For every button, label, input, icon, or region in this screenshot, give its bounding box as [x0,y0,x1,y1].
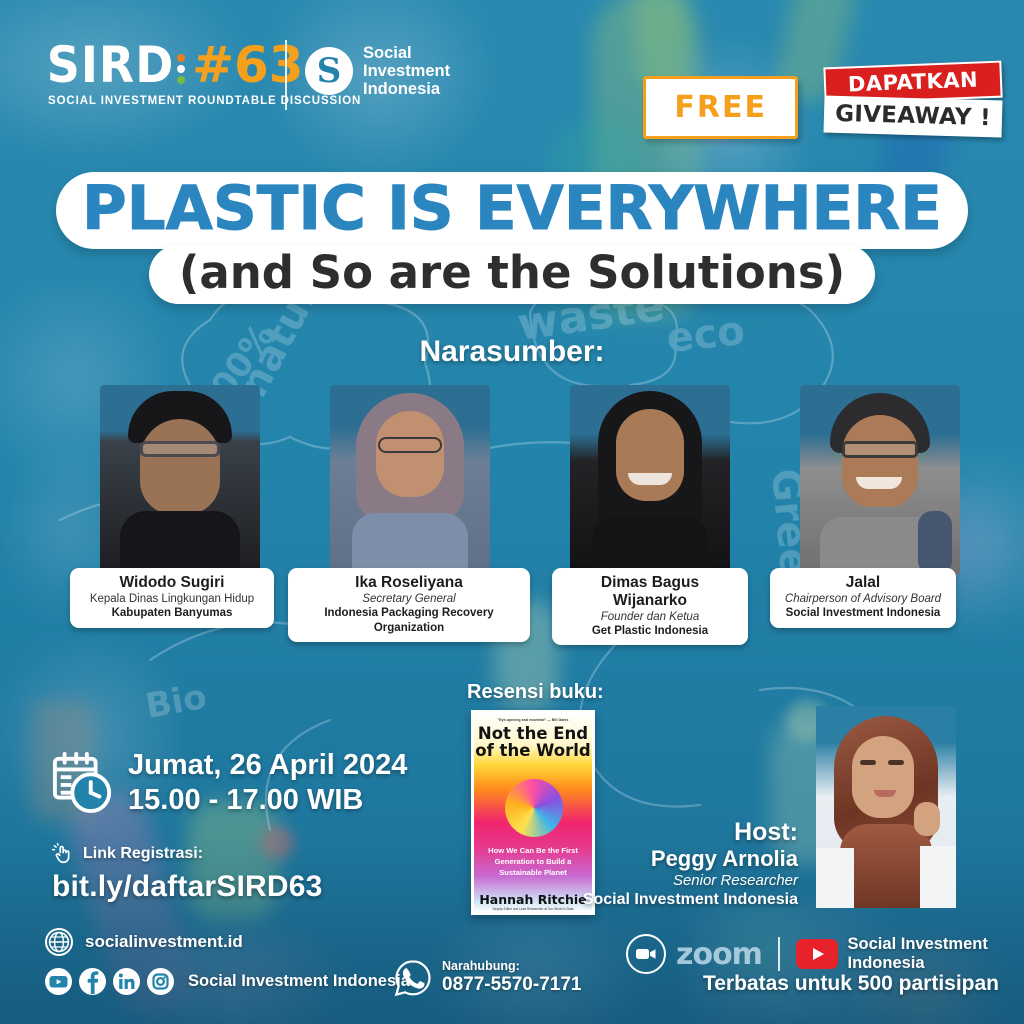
name-card-widodo-sugiri: Widodo Sugiri Kepala Dinas Lingkungan Hi… [70,568,274,628]
book-author-credentials: Deputy Editor and Lead Researcher at Our… [474,907,592,911]
si-logo-line1: Social [363,44,450,62]
registration-label: Link Registrasi: [83,845,203,863]
speaker-role: Chairperson of Advisory Board [780,592,946,606]
speaker-org: Get Plastic Indonesia [562,624,738,638]
speaker-role: Founder dan Ketua [562,610,738,624]
speaker-role: Secretary General [298,592,520,606]
name-card-jalal: Jalal Chairperson of Advisory Board Soci… [770,568,956,628]
facebook-icon[interactable] [79,968,106,995]
zoom-wordmark: zoom [676,937,762,972]
book-subtitle: How We Can Be the First Generation to Bu… [474,846,592,878]
host-role: Senior Researcher [583,872,798,890]
poster-canvas: natural 100% waste eco Green Bio SIRD #6… [0,0,1024,1024]
brand-dots-icon [177,54,185,84]
capacity-note: Terbatas untuk 500 partisipan [703,972,999,996]
zoom-icon [626,934,666,974]
title-line2-plate: (and So are the Solutions) [149,245,875,304]
book-section-label: Resensi buku: [467,681,604,704]
si-logo-line2: Investment [363,62,450,80]
speaker-role: Kepala Dinas Lingkungan Hidup [80,592,264,606]
header-divider [285,40,287,110]
registration-block[interactable]: Link Registrasi: bit.ly/daftarSIRD63 [52,843,323,904]
globe-icon [45,928,73,956]
speaker-photo-widodo-sugiri [100,385,260,575]
calendar-clock-icon [52,752,114,814]
website-row[interactable]: socialinvestment.id [45,928,243,956]
free-badge: FREE [643,76,798,139]
event-datetime-text: Jumat, 26 April 2024 15.00 - 17.00 WIB [128,748,407,819]
book-globe-graphic [505,779,563,837]
speaker-photo-ika-roseliyana [330,385,490,575]
name-card-ika-roseliyana: Ika Roseliyana Secretary General Indones… [288,568,530,642]
free-badge-label: FREE [674,90,767,125]
poster-header: SIRD #63 SOCIAL INVESTMENT ROUNDTABLE DI… [0,36,1024,116]
giveaway-bottom-label: GIVEAWAY ! [824,96,1003,138]
platform-divider [778,937,780,971]
contact-phone[interactable]: 0877-5570-7171 [442,974,581,996]
contact-label: Narahubung: [442,960,581,974]
host-info: Host: Peggy Arnolia Senior Researcher So… [583,818,798,910]
instagram-icon[interactable] [147,968,174,995]
host-org: Social Investment Indonesia [583,890,798,910]
social-handle: Social Investment Indonesia [188,972,410,991]
speaker-photo-jalal [800,385,960,575]
speaker-org: Kabupaten Banyumas [80,606,264,620]
giveaway-badge: DAPATKAN GIVEAWAY ! [824,64,1002,135]
platform-row: zoom Social Investment Indonesia [626,934,1024,974]
title-line2: (and So are the Solutions) [179,246,845,299]
book-title: Not the End of the World [474,726,592,760]
poster-title: PLASTIC IS EVERYWHERE (and So are the So… [0,172,1024,304]
speaker-name: Widodo Sugiri [80,574,264,592]
title-line1: PLASTIC IS EVERYWHERE [82,173,942,244]
speaker-photo-dimas-bagus-wijanarko [570,385,730,575]
speaker-org: Social Investment Indonesia [780,606,946,620]
book-cover: "Eye-opening and essential" — Bill Gates… [471,710,595,915]
speaker-name: Jalal [780,574,946,592]
host-label: Host: [583,818,798,846]
event-time: 15.00 - 17.00 WIB [128,783,407,818]
si-logo-mark-icon [305,47,353,95]
website-url[interactable]: socialinvestment.id [85,932,243,952]
whatsapp-icon [393,958,433,998]
speakers-heading: Narasumber: [0,335,1024,369]
host-photo-peggy-arnolia [816,706,956,908]
title-line1-plate: PLASTIC IS EVERYWHERE [56,172,968,249]
linkedin-icon[interactable] [113,968,140,995]
speaker-name: Ika Roseliyana [298,574,520,592]
event-datetime: Jumat, 26 April 2024 15.00 - 17.00 WIB [52,748,407,819]
book-author: Hannah Ritchie [474,892,592,907]
youtube-play-icon [796,939,838,969]
event-date: Jumat, 26 April 2024 [128,748,407,783]
youtube-icon[interactable] [45,968,72,995]
whatsapp-contact-row[interactable]: Narahubung: 0877-5570-7171 [393,958,581,998]
book-quote: "Eye-opening and essential" — Bill Gates [474,718,592,722]
click-hand-icon [52,843,74,865]
host-name: Peggy Arnolia [583,846,798,872]
registration-url[interactable]: bit.ly/daftarSIRD63 [52,870,323,904]
social-row[interactable]: Social Investment Indonesia [45,968,410,995]
youtube-channel-name: Social Investment Indonesia [848,935,1024,973]
social-investment-logo: Social Investment Indonesia [305,44,450,98]
speaker-name-cards: Widodo Sugiri Kepala Dinas Lingkungan Hi… [0,568,1024,630]
speaker-org: Indonesia Packaging Recovery Organizatio… [298,606,520,635]
si-logo-text: Social Investment Indonesia [363,44,450,98]
brand-name: SIRD [47,42,175,90]
si-logo-line3: Indonesia [363,80,450,98]
speaker-name: Dimas Bagus Wijanarko [562,574,738,610]
svg-text:Bio: Bio [143,677,210,727]
name-card-dimas-bagus-wijanarko: Dimas Bagus Wijanarko Founder dan Ketua … [552,568,748,645]
